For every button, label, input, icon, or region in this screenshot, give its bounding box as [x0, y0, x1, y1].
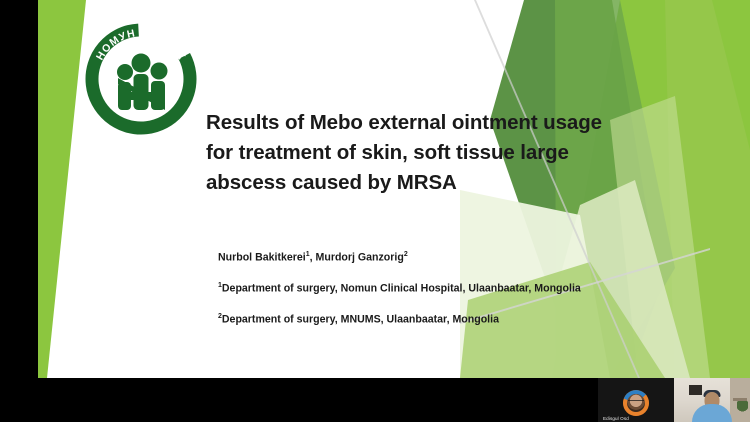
- participant-tile-video[interactable]: [674, 378, 750, 422]
- slide-authors-block: Nurbol Bakitkerei1, Murdorj Ganzorig2 1D…: [218, 251, 638, 344]
- nomun-clinic-logo: НОМУН КЛИНИК ЭМНЭЛЭГ: [80, 18, 202, 140]
- participant-tile-avatar[interactable]: Edisgul Osd: [598, 378, 674, 422]
- torso: [692, 404, 732, 422]
- participant-filmstrip: Edisgul Osd: [598, 378, 750, 422]
- letterbox-left: [0, 0, 38, 422]
- shared-presentation-slide[interactable]: НОМУН КЛИНИК ЭМНЭЛЭГ Resul: [38, 0, 750, 378]
- avatar: [623, 390, 649, 416]
- participant-webcam-person: [692, 389, 732, 422]
- affiliation-line-2: 2Department of surgery, MNUMS, Ulaanbaat…: [218, 313, 638, 325]
- authors-line: Nurbol Bakitkerei1, Murdorj Ganzorig2: [218, 251, 638, 263]
- meeting-stage: НОМУН КЛИНИК ЭМНЭЛЭГ Resul: [0, 0, 750, 422]
- glasses-icon: [628, 400, 644, 405]
- plant: [737, 401, 748, 415]
- slide-title: Results of Mebo external ointment usage …: [206, 108, 614, 198]
- affiliation-line-1: 1Department of surgery, Nomun Clinical H…: [218, 282, 638, 294]
- participant-name-label: Edisgul Osd: [603, 416, 629, 421]
